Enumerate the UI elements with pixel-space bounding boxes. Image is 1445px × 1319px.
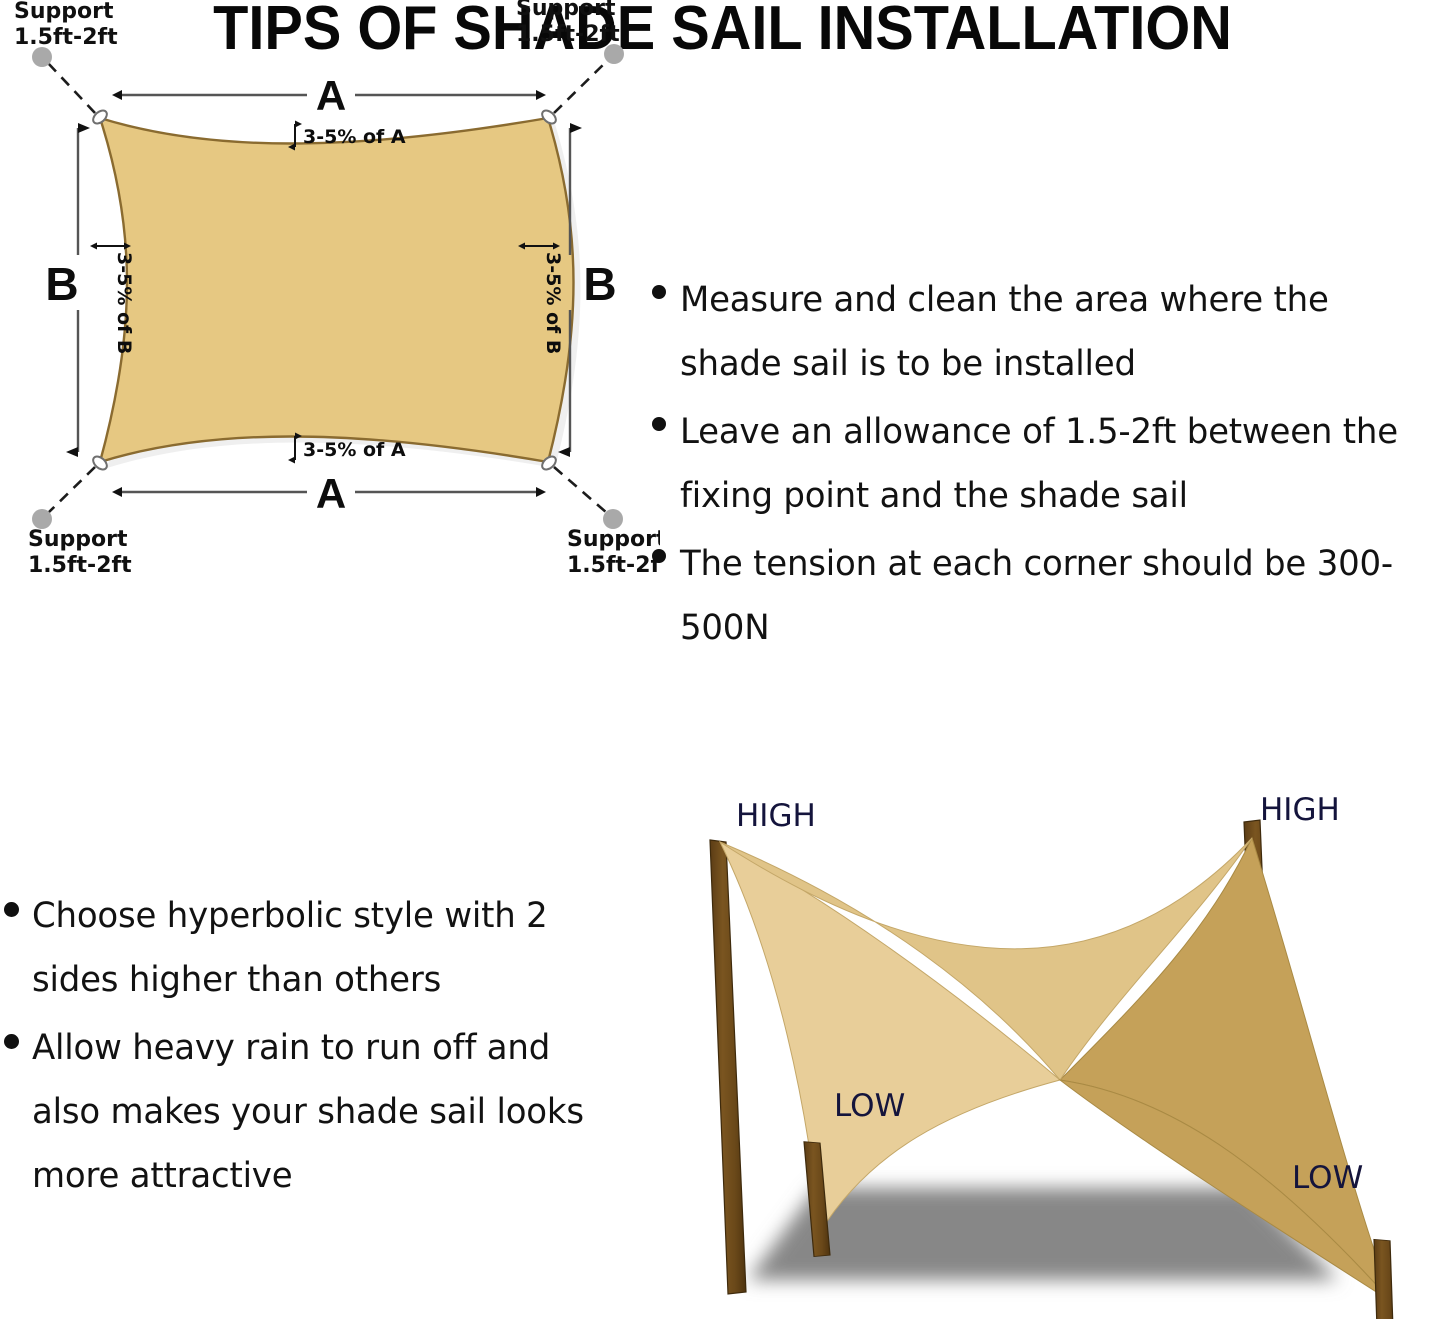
rect-sail-diagram: A 3-5% of A A 3-5% of A B 3-5% of B B 3-…: [0, 0, 660, 580]
list-item-label: The tension at each corner should be 300…: [680, 532, 1429, 660]
curve-label-top: 3-5% of A: [303, 126, 406, 148]
bullet-dot-icon: [652, 285, 666, 299]
support-dot-top-right: [604, 44, 624, 64]
dim-label-b-left: B: [45, 258, 78, 310]
sail-shape: [100, 118, 574, 462]
post-right-low: [1374, 1239, 1396, 1319]
dim-label-a-bottom: A: [316, 470, 346, 517]
svg-text:1.5ft-2ft: 1.5ft-2ft: [14, 25, 118, 50]
svg-text:Support: Support: [567, 527, 660, 552]
svg-text:1.5ft-2ft: 1.5ft-2ft: [28, 553, 132, 578]
support-line-bottom-right: [554, 467, 607, 513]
svg-text:Support: Support: [14, 0, 114, 24]
label-high-right: HIGH: [1260, 792, 1340, 828]
list-item-label: Leave an allowance of 1.5-2ft between th…: [680, 400, 1429, 528]
svg-text:1.5ft-2ft: 1.5ft-2ft: [567, 553, 660, 578]
support-label-bottom-left: Support 1.5ft-2ft: [28, 527, 132, 578]
support-dot-bottom-left: [32, 509, 52, 529]
label-low-left: LOW: [834, 1088, 905, 1124]
support-line-top-left: [48, 63, 95, 113]
dim-label-b-right: B: [583, 258, 616, 310]
curve-label-left: 3-5% of B: [113, 252, 135, 354]
svg-text:Support: Support: [516, 0, 616, 21]
svg-text:Support: Support: [28, 527, 128, 552]
list-item-label: Measure and clean the area where the sha…: [680, 268, 1429, 396]
support-line-bottom-left: [48, 467, 95, 513]
label-low-right: LOW: [1292, 1160, 1363, 1196]
support-line-top-right: [554, 60, 608, 113]
list-item: Measure and clean the area where the sha…: [652, 268, 1445, 396]
support-dot-top-left: [32, 47, 52, 67]
support-label-top-right: Support 1.5ft-2ft: [516, 0, 620, 47]
bullet-dot-icon: [652, 417, 666, 431]
curve-label-bottom: 3-5% of A: [303, 439, 406, 461]
bullet-dot-icon: [4, 1034, 19, 1049]
list-item: The tension at each corner should be 300…: [652, 532, 1445, 660]
label-high-left: HIGH: [736, 798, 816, 834]
support-label-bottom-right: Support 1.5ft-2ft: [567, 527, 660, 578]
bottom-tips-list: Choose hyperbolic style with 2 sides hig…: [4, 884, 619, 1212]
post-left-high: [710, 840, 746, 1294]
list-item: Leave an allowance of 1.5-2ft between th…: [652, 400, 1445, 528]
list-item-label: Choose hyperbolic style with 2 sides hig…: [32, 884, 601, 1012]
sail-lobe-light: [720, 842, 1060, 1232]
hyperbolic-sail-diagram: HIGH HIGH LOW LOW: [648, 780, 1445, 1319]
support-dot-bottom-right: [603, 509, 623, 529]
list-item: Allow heavy rain to run off and also mak…: [4, 1016, 619, 1208]
top-tips-list: Measure and clean the area where the sha…: [652, 268, 1445, 664]
dim-label-a-top: A: [316, 72, 346, 119]
list-item: Choose hyperbolic style with 2 sides hig…: [4, 884, 619, 1012]
svg-text:1.5ft-2ft: 1.5ft-2ft: [516, 22, 620, 47]
bullet-dot-icon: [4, 902, 19, 917]
curve-label-right: 3-5% of B: [542, 252, 564, 354]
list-item-label: Allow heavy rain to run off and also mak…: [32, 1016, 601, 1208]
bullet-dot-icon: [652, 549, 666, 563]
support-label-top-left: Support 1.5ft-2ft: [14, 0, 118, 50]
